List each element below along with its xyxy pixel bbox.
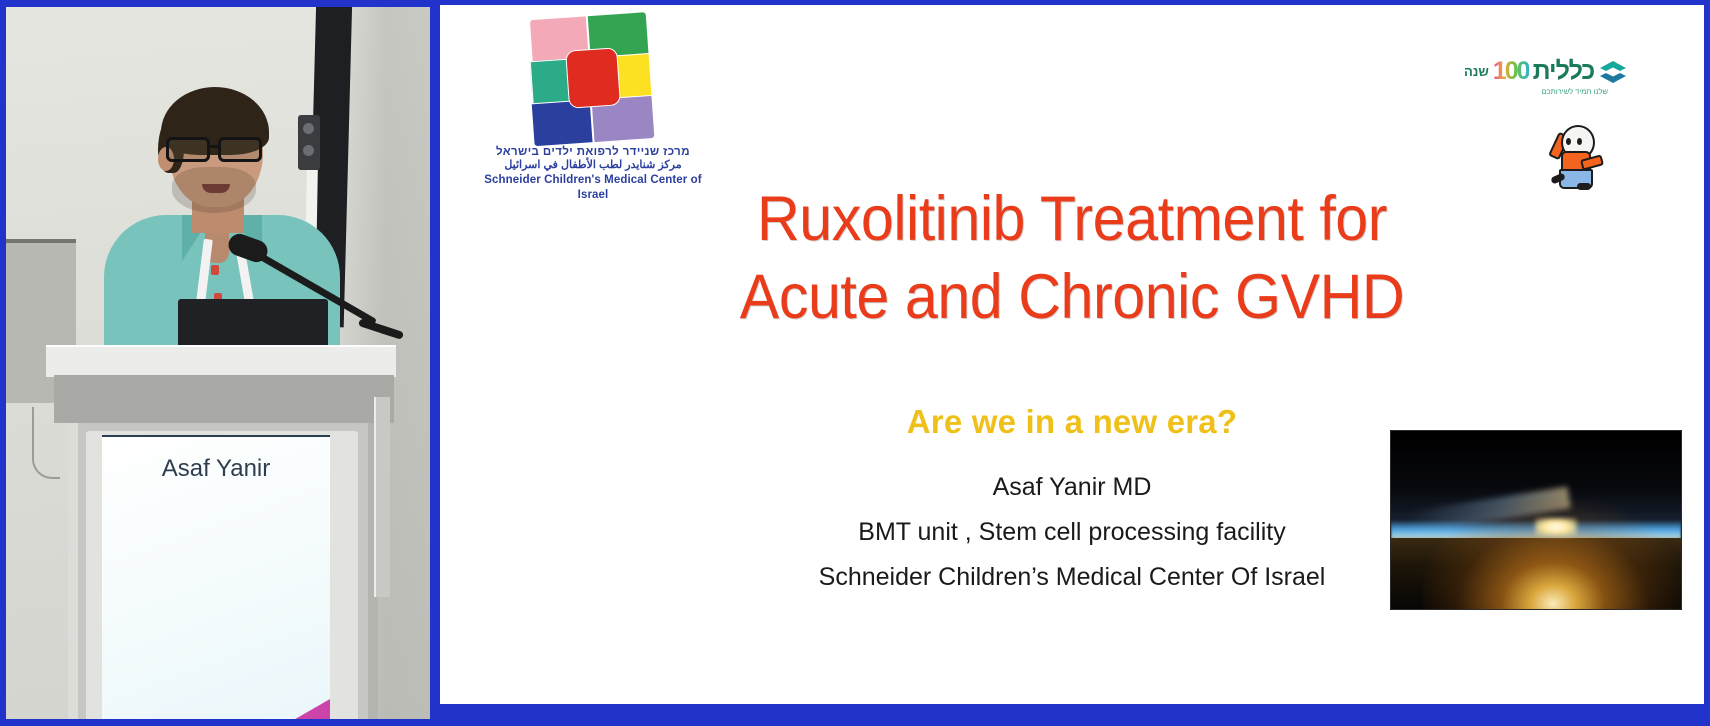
wall-speaker — [298, 115, 320, 170]
sunrise-sun-core — [1535, 518, 1577, 536]
clalit-mark-icon — [1598, 59, 1628, 85]
clalit-tagline: שלנו תמיד לשירותכם — [1464, 87, 1654, 96]
title-line-1: Ruxolitinib Treatment for — [478, 180, 1666, 258]
clalit-logo: כללית 100 שנה שלנו תמיד לשירותכם — [1464, 57, 1654, 96]
mascot-eye-left — [1566, 138, 1571, 145]
puzzle-logo-icon — [525, 9, 662, 146]
sunrise-from-space-photo — [1390, 430, 1682, 610]
slide-panel[interactable]: מרכז שניידר לרפואת ילדים בישראל مركز شنا… — [437, 0, 1710, 726]
podium-sponsor-logos: ♟♟♟ D•N ⚭ ☆☆ — [102, 699, 330, 719]
mascot-eye-right — [1577, 138, 1582, 145]
clalit-kid-mascot-icon — [1531, 125, 1609, 187]
video-feed: Asaf Yanir ♟♟♟ D•N ⚭ ☆☆ — [6, 7, 430, 719]
corner-ribbon — [258, 699, 330, 719]
title-line-2: Acute and Chronic GVHD — [478, 258, 1666, 336]
clalit-word: כללית — [1533, 57, 1595, 86]
podium-band — [54, 375, 394, 423]
slide-title: Ruxolitinib Treatment for Acute and Chro… — [440, 180, 1704, 336]
cable — [32, 407, 60, 479]
clalit-logo-row: כללית 100 שנה — [1464, 57, 1654, 86]
podium-speaker-name: Asaf Yanir — [102, 455, 330, 483]
sunrise-glow — [1423, 499, 1682, 610]
presentation-screen: Asaf Yanir ♟♟♟ D•N ⚭ ☆☆ — [0, 0, 1710, 726]
podium-name-display: Asaf Yanir ♟♟♟ D•N ⚭ ☆☆ — [102, 435, 330, 719]
lens-left — [166, 137, 210, 162]
puzzle-piece-red — [565, 47, 621, 108]
schneider-hebrew-line: מרכז שניידר לרפואת ילדים בישראל — [478, 145, 708, 159]
lanyard-badge-a — [211, 265, 219, 275]
eyeglasses-icon — [162, 137, 270, 163]
podium-top — [46, 345, 396, 377]
clalit-years-label: שנה — [1464, 64, 1489, 79]
podium-pole — [374, 397, 390, 597]
speaker-video-panel[interactable]: Asaf Yanir ♟♟♟ D•N ⚭ ☆☆ — [0, 0, 437, 726]
lens-right — [218, 137, 262, 162]
clalit-anniversary-number: 100 — [1493, 57, 1529, 86]
schneider-logo: מרכז שניידר לרפואת ילדים בישראל مركز شنا… — [478, 13, 708, 202]
slide-content: מרכז שניידר לרפואת ילדים בישראל مركز شنا… — [440, 5, 1704, 704]
schneider-arabic-line: مركز شنايدر لطب الأطفال في اسرائيل — [478, 159, 708, 173]
